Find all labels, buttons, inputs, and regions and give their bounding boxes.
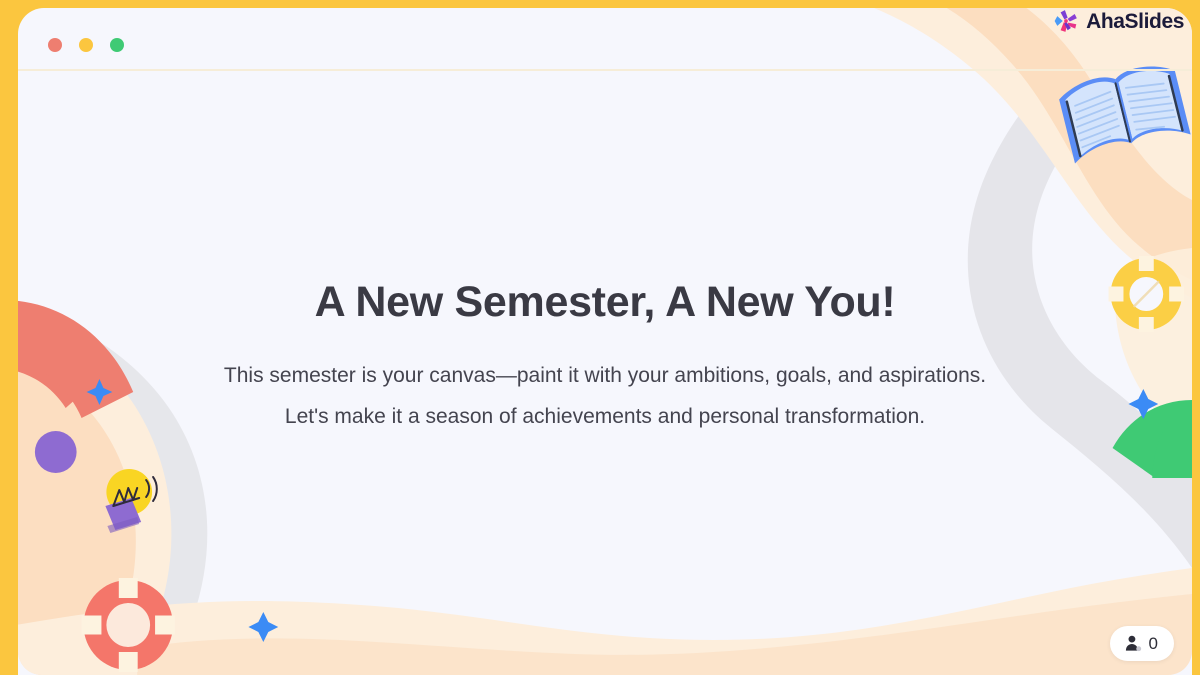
slide-content: A New Semester, A New You! This semester… bbox=[18, 70, 1192, 675]
presentation-window-panel: A New Semester, A New You! This semester… bbox=[18, 8, 1192, 675]
slide-frame: A New Semester, A New You! This semester… bbox=[0, 0, 1200, 675]
person-icon bbox=[1124, 634, 1143, 653]
slide-body-line-2: Let's make it a season of achievements a… bbox=[224, 397, 986, 438]
window-title-bar bbox=[18, 8, 1192, 62]
title-bar-divider bbox=[18, 69, 1192, 71]
window-close-button[interactable] bbox=[48, 38, 62, 52]
brand-logo: AhaSlides bbox=[1053, 8, 1184, 34]
slide-body: This semester is your canvas—paint it wi… bbox=[224, 356, 986, 438]
window-minimize-button[interactable] bbox=[79, 38, 93, 52]
slide-body-line-1: This semester is your canvas—paint it wi… bbox=[224, 356, 986, 397]
participant-count: 0 bbox=[1149, 635, 1158, 652]
brand-name: AhaSlides bbox=[1086, 11, 1184, 32]
window-maximize-button[interactable] bbox=[110, 38, 124, 52]
participant-counter[interactable]: 0 bbox=[1110, 626, 1174, 661]
slide-title: A New Semester, A New You! bbox=[315, 277, 896, 329]
ahaslides-star-icon bbox=[1053, 8, 1079, 34]
